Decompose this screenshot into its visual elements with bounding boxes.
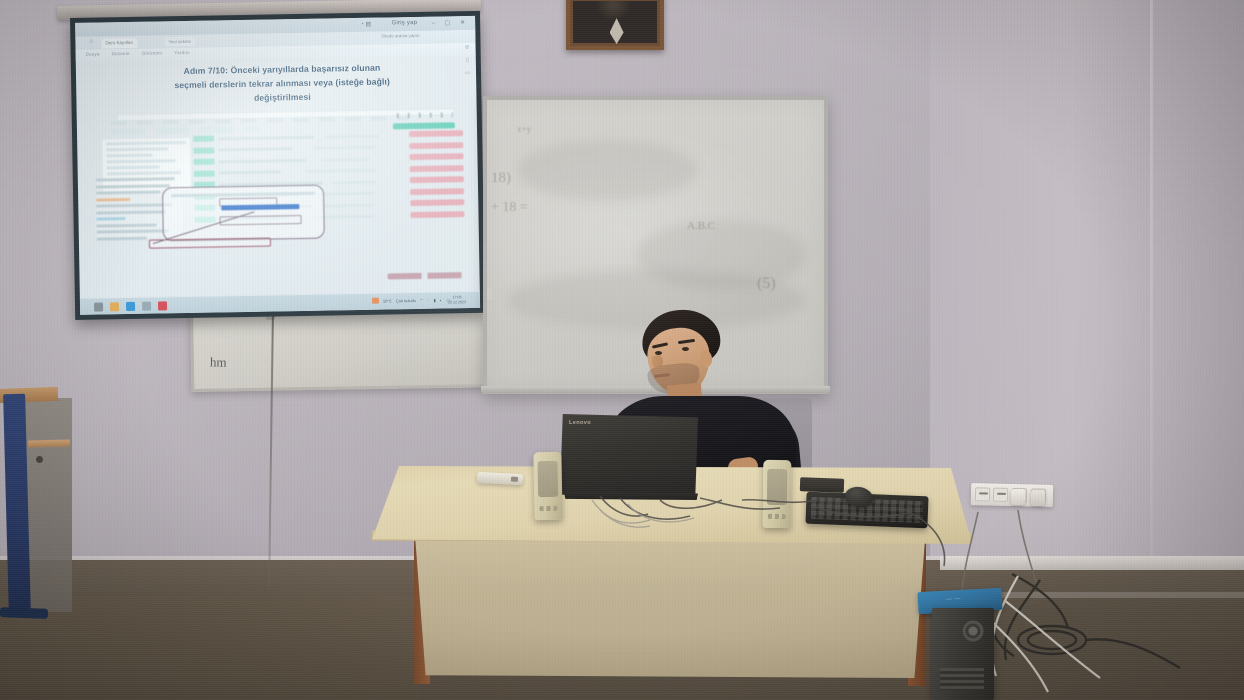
row-action-button[interactable]	[409, 142, 463, 149]
form-toolbar-icons[interactable]	[397, 112, 453, 118]
home-icon[interactable]: ⌂	[89, 39, 93, 45]
plug-white[interactable]	[1011, 489, 1025, 505]
row-action-button[interactable]	[409, 130, 463, 137]
menu-item-1[interactable]: Düzenle	[112, 51, 130, 56]
classroom-photo: hm ‒ ▢ ✕ Giriş yap ◔ ▤ ⌂ Ders Kayıtları …	[0, 0, 1244, 700]
duplicate-icon[interactable]: ▭	[465, 70, 470, 76]
explorer-icon[interactable]	[110, 302, 119, 311]
form-footer-buttons[interactable]	[388, 272, 466, 279]
table-row[interactable]	[193, 143, 399, 156]
form-primary-button[interactable]	[393, 122, 455, 129]
whiteboard-mark: x+y	[517, 124, 531, 134]
right-wall	[930, 0, 1244, 620]
left-cabinet-knob[interactable]	[36, 456, 43, 463]
whiteboard-mark: 18)	[491, 170, 511, 187]
row-action-button[interactable]	[410, 165, 464, 172]
weather-label: Çok bulutlu	[396, 298, 416, 303]
tower-ports	[940, 668, 984, 690]
remote-button[interactable]	[511, 477, 518, 482]
menu-item-0[interactable]: Dosya	[86, 51, 100, 56]
weather-temp: 10°C	[383, 298, 392, 303]
plug-grey[interactable]	[1031, 490, 1045, 506]
table-row[interactable]	[194, 166, 400, 179]
menu-item-3[interactable]: Yardım	[174, 50, 190, 55]
laptop-lid	[560, 414, 698, 498]
chevron-up-icon[interactable]: ⌃	[420, 297, 423, 302]
left-cabinet-shelf	[28, 439, 70, 447]
store-icon[interactable]	[142, 301, 151, 310]
speaker-knobs[interactable]	[768, 514, 786, 519]
row-action-button[interactable]	[410, 211, 464, 218]
monitor-base	[800, 477, 844, 493]
wall-corner-seam	[1150, 0, 1153, 600]
speaker-right[interactable]	[763, 460, 792, 528]
new-tab-button[interactable]: Yeni sekme	[164, 37, 195, 47]
form-action-column[interactable]	[409, 130, 465, 223]
callout-leader-line	[150, 210, 259, 246]
volume-icon[interactable]: ◐	[440, 297, 443, 302]
laptop-brand-label: Lenovo	[569, 420, 591, 426]
menu-item-2[interactable]: Görünüm	[142, 50, 162, 55]
page-icon[interactable]: ▯	[466, 57, 469, 63]
edge-icon[interactable]	[126, 301, 135, 310]
left-cabinet	[24, 398, 72, 612]
tower-fan-icon	[962, 620, 984, 642]
whiteboard-mark: + 18 =	[491, 200, 528, 216]
speaker-grille	[538, 461, 559, 497]
cloud-icon[interactable]: ◌	[427, 297, 429, 302]
left-chair-foot	[0, 607, 48, 619]
browser-side-icons[interactable]: ◎ ▯ ▭	[465, 44, 470, 76]
slide-heading: Adım 7/10: Önceki yarıyıllarda başarısız…	[112, 60, 453, 108]
row-action-button[interactable]	[410, 199, 464, 206]
taskbar-app-icons[interactable]	[94, 301, 167, 311]
help-icon[interactable]: ◔ ▤	[360, 21, 371, 28]
row-action-button[interactable]	[409, 153, 463, 160]
weather-icon	[372, 298, 379, 304]
pdf-icon[interactable]	[158, 301, 167, 310]
pc-tower	[932, 608, 994, 700]
projection-surface: ‒ ▢ ✕ Giriş yap ◔ ▤ ⌂ Ders Kayıtları Yen…	[75, 16, 480, 315]
laptop[interactable]: Lenovo	[560, 414, 698, 498]
framed-portrait	[566, 0, 664, 50]
table-row[interactable]	[193, 154, 399, 167]
taskbar-clock[interactable]: 17:03 25.12.2023	[448, 295, 466, 306]
network-icon[interactable]: ▮	[434, 297, 436, 302]
remote-control[interactable]	[477, 472, 524, 485]
search-input[interactable]: Sitede arama yapın	[381, 33, 419, 39]
window-controls[interactable]: ‒ ▢ ✕	[432, 19, 469, 27]
whiteboard-hook	[487, 288, 492, 300]
start-icon[interactable]	[94, 302, 103, 311]
clock-date: 25.12.2023	[448, 300, 466, 306]
speaker-grille	[767, 469, 787, 505]
socket-1[interactable]	[975, 487, 990, 501]
system-tray[interactable]: 10°C Çok bulutlu ⌃ ◌ ▮ ◐ ▭	[372, 296, 450, 303]
whiteboard-mark: A.B.C	[687, 220, 715, 232]
whiteboard-mark: (5)	[757, 275, 776, 293]
whiteboard-scribble: hm	[210, 354, 227, 370]
person-eye	[682, 347, 689, 351]
row-action-button[interactable]	[410, 188, 464, 195]
speaker-left[interactable]	[533, 452, 562, 520]
browser-tab[interactable]: Ders Kayıtları	[101, 37, 137, 48]
copy-icon[interactable]: ◎	[465, 44, 469, 50]
baseboard-right	[940, 556, 1244, 570]
login-link[interactable]: Giriş yap	[392, 19, 418, 25]
slide-screenshot	[89, 108, 472, 289]
windows-taskbar: 10°C Çok bulutlu ⌃ ◌ ▮ ◐ ▭ 17:03 25.12.2…	[80, 291, 480, 315]
speaker-knobs[interactable]	[539, 506, 557, 511]
case-label: — —	[946, 596, 961, 603]
row-action-button[interactable]	[410, 176, 464, 183]
socket-2[interactable]	[993, 488, 1008, 502]
projector-screen: ‒ ▢ ✕ Giriş yap ◔ ▤ ⌂ Ders Kayıtları Yen…	[70, 11, 485, 320]
desk-modesty-panel	[410, 538, 930, 678]
